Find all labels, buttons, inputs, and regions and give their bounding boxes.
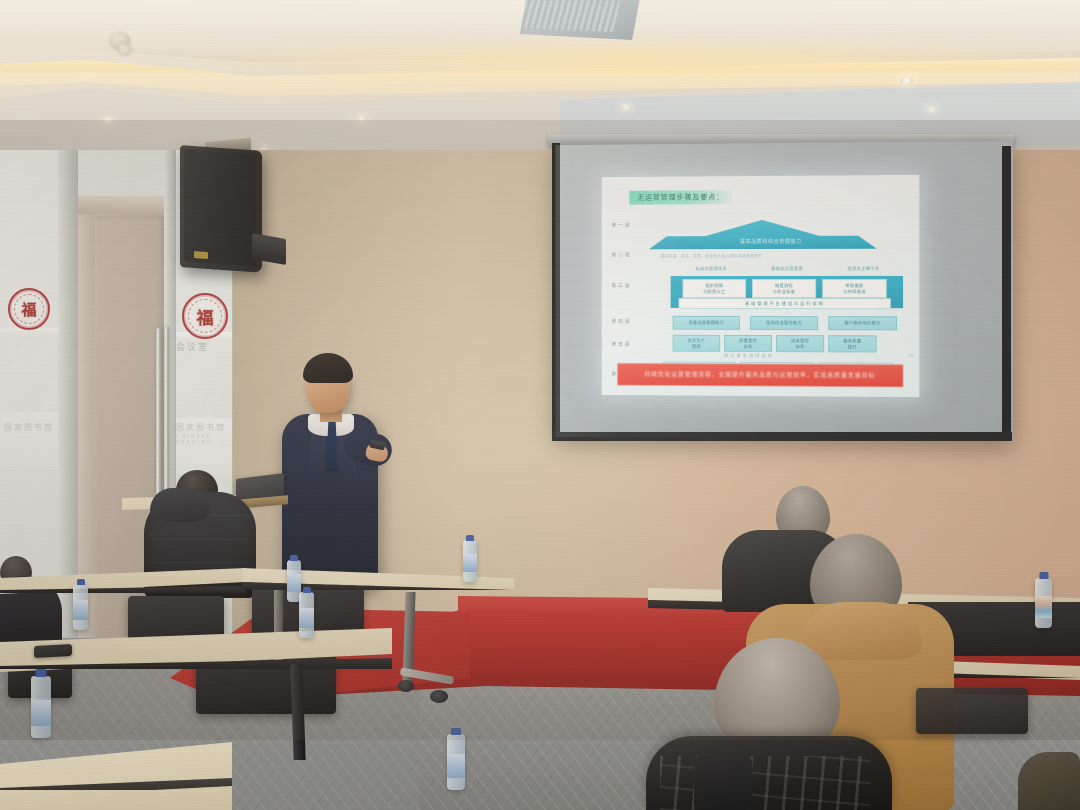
attendee-jacket-pattern: [660, 756, 870, 810]
photo-vignette: [0, 120, 1080, 740]
downlight-icon: [926, 106, 937, 112]
smoke-detector-base: [118, 44, 132, 54]
chair-back[interactable]: [694, 756, 752, 810]
water-bottle[interactable]: [447, 734, 465, 790]
downlight-icon: [620, 104, 632, 110]
downlight-icon: [900, 76, 913, 85]
attendee-far-right: [1018, 752, 1080, 810]
conference-room-photo: 会议室 国家图书馆 国家图书馆 CHINESE READING 福 福 无运营管…: [0, 0, 1080, 810]
cove-light-glow: [0, 30, 1080, 92]
